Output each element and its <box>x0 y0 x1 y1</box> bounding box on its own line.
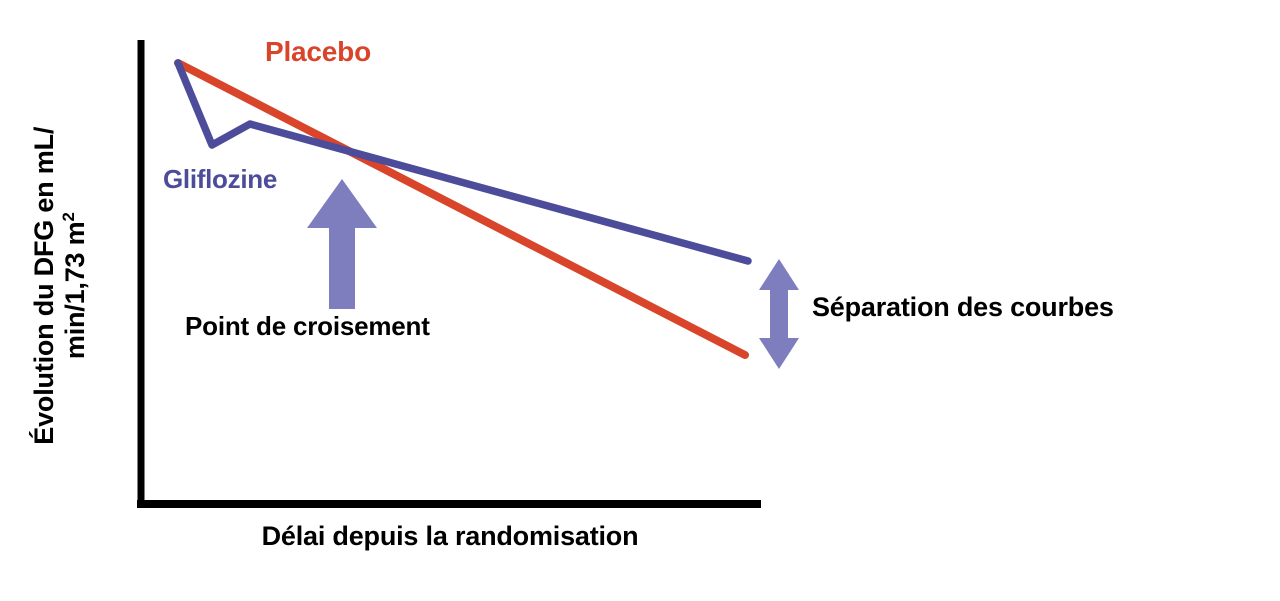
chart-figure: Évolution du DFG en mL/ min/1,73 m2 Déla… <box>0 0 1280 601</box>
separation-double-arrow-icon <box>759 259 799 369</box>
crossing-point-arrow-icon <box>307 179 377 309</box>
y-axis-title: Évolution du DFG en mL/ min/1,73 m2 <box>29 76 91 496</box>
separation-annotation-label: Séparation des courbes <box>812 292 1114 323</box>
gliflozine-curve <box>178 63 748 261</box>
gliflozine-series-label: Gliflozine <box>163 165 277 195</box>
y-axis-title-superscript: 2 <box>59 212 78 221</box>
x-axis-title: Délai depuis la randomisation <box>140 521 760 552</box>
y-axis-title-line-2-text: min/1,73 m <box>60 222 90 360</box>
y-axis-title-line-2: min/1,73 m2 <box>60 76 91 496</box>
y-axis-title-line-1: Évolution du DFG en mL/ <box>29 76 60 496</box>
crossing-point-annotation-label: Point de croisement <box>185 312 430 342</box>
placebo-series-label: Placebo <box>265 36 371 68</box>
